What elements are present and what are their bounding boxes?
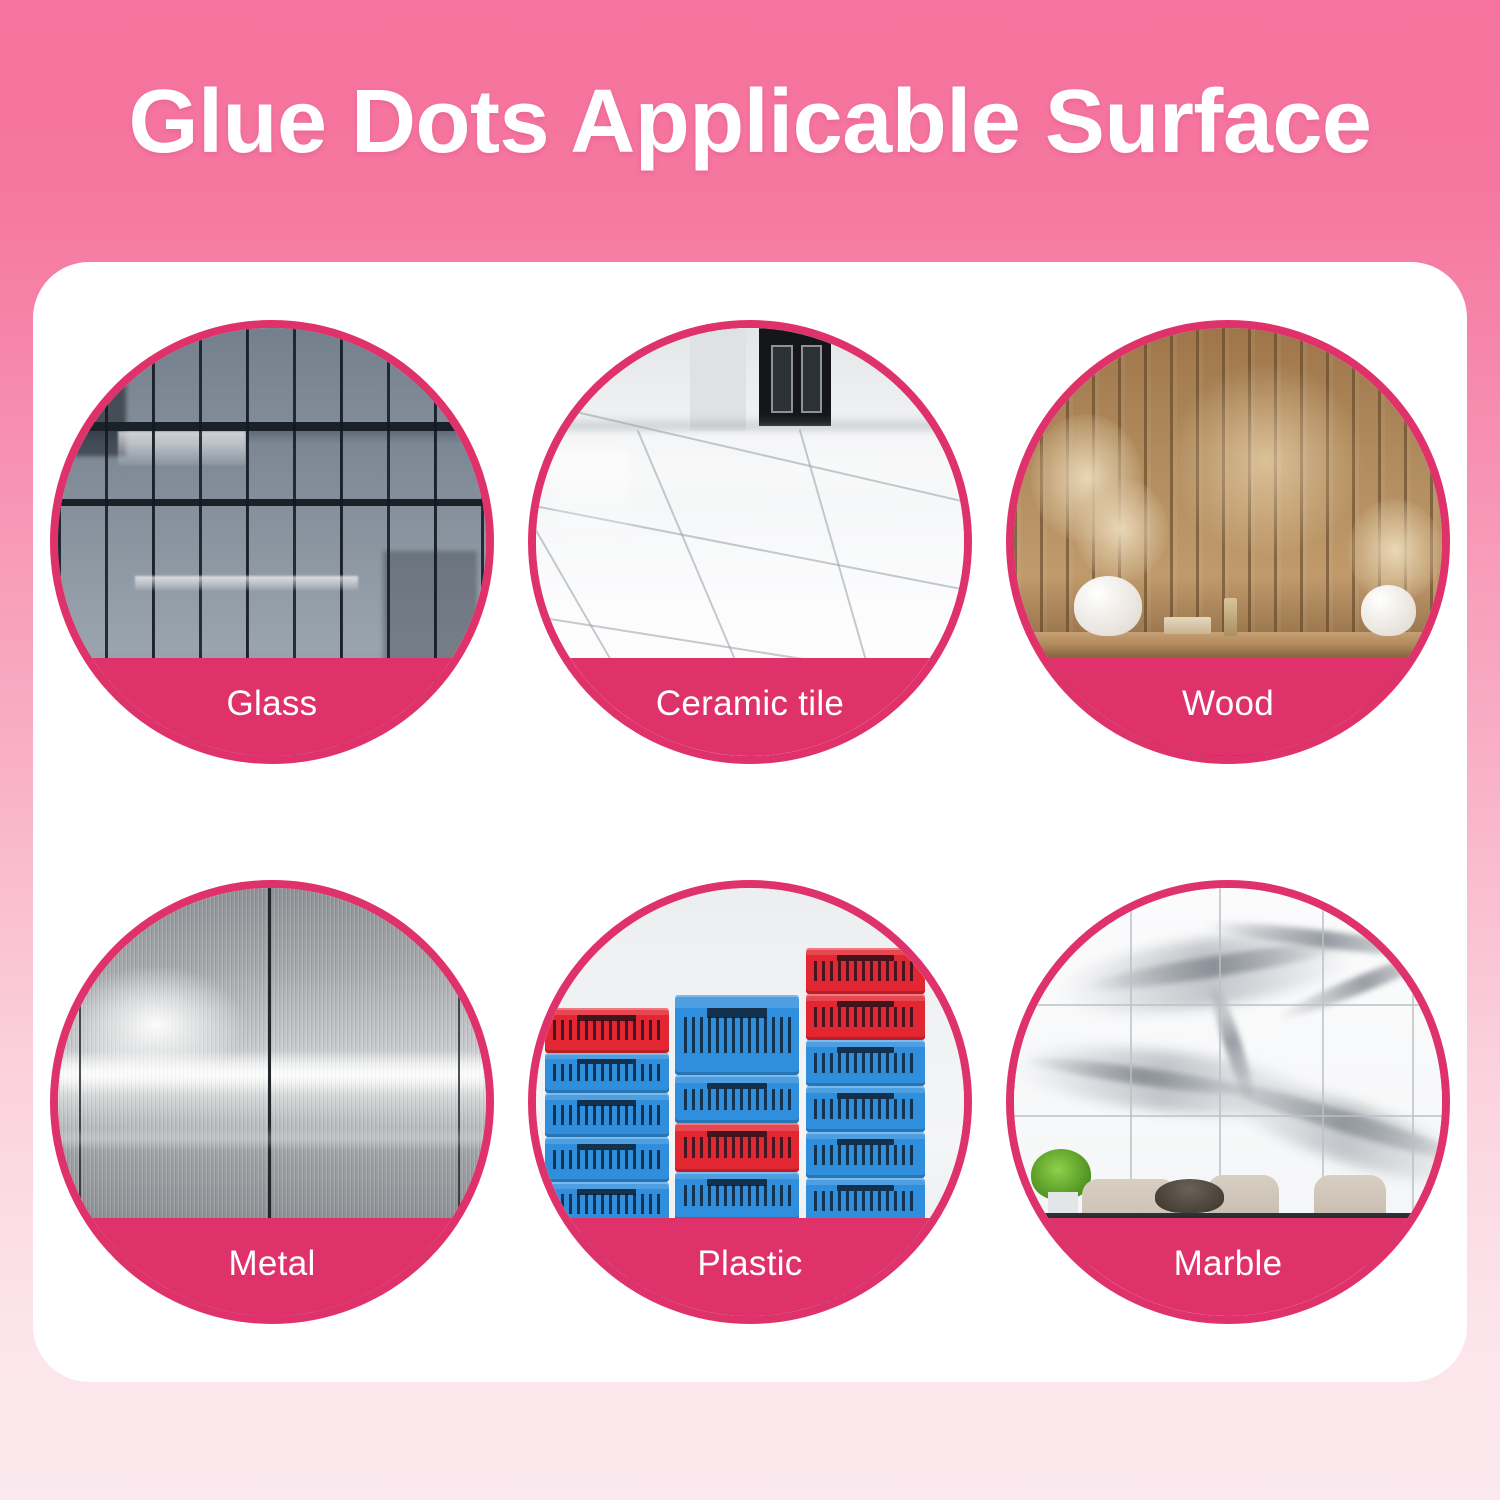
surface-tile-plastic[interactable]: Plastic xyxy=(528,880,972,1324)
wood-vase-right xyxy=(1361,585,1417,636)
poster-root: Glue Dots Applicable Surface xyxy=(0,0,1500,1500)
metal-soft-reflection xyxy=(58,1128,486,1149)
surface-grid: Glass xyxy=(33,262,1467,1382)
marble-grout-h-1 xyxy=(1014,1004,1442,1006)
surface-label-band-marble: Marble xyxy=(1014,1218,1442,1316)
surface-label-band-ceramic: Ceramic tile xyxy=(536,658,964,756)
page-title: Glue Dots Applicable Surface xyxy=(0,76,1500,170)
surface-circle-plastic: Plastic xyxy=(528,880,972,1324)
marble-grout-v-4 xyxy=(1412,888,1414,1222)
surface-label-band-wood: Wood xyxy=(1014,658,1442,756)
wood-branch-left-b xyxy=(1074,478,1168,581)
ceramic-door-panel-right xyxy=(801,345,822,413)
crate xyxy=(545,1008,669,1053)
surface-tile-wood[interactable]: Wood xyxy=(1006,320,1450,764)
ceramic-specular-left xyxy=(553,448,630,559)
ceramic-door-panel-left xyxy=(771,345,792,413)
surface-tile-marble[interactable]: Marble xyxy=(1006,880,1450,1324)
marble-table-bowl xyxy=(1155,1179,1223,1213)
crate xyxy=(675,1123,799,1171)
metal-highlight-band xyxy=(58,1051,486,1094)
marble-grout-h-2 xyxy=(1014,1115,1442,1117)
crate xyxy=(806,948,926,994)
surface-circle-ceramic: Ceramic tile xyxy=(528,320,972,764)
surface-label-marble: Marble xyxy=(1174,1246,1283,1281)
surface-label-metal: Metal xyxy=(228,1246,315,1281)
crate xyxy=(545,1137,669,1182)
surface-label-band-plastic: Plastic xyxy=(536,1218,964,1316)
wood-candle-holder xyxy=(1224,598,1237,637)
crate xyxy=(806,1132,926,1178)
surface-label-wood: Wood xyxy=(1182,686,1274,721)
crate xyxy=(545,1053,669,1093)
crate xyxy=(806,1086,926,1132)
surface-circle-marble: Marble xyxy=(1006,880,1450,1324)
surface-label-band-metal: Metal xyxy=(58,1218,486,1316)
surface-label-ceramic: Ceramic tile xyxy=(656,686,844,721)
wood-vase-left xyxy=(1074,576,1142,636)
crate xyxy=(806,994,926,1040)
crate xyxy=(545,1093,669,1138)
surface-circle-metal: Metal xyxy=(50,880,494,1324)
surface-circle-glass: Glass xyxy=(50,320,494,764)
wood-books xyxy=(1164,617,1211,634)
ceramic-wall-column xyxy=(690,328,746,431)
surface-label-glass: Glass xyxy=(227,686,318,721)
crate xyxy=(675,1172,799,1220)
surface-label-plastic: Plastic xyxy=(697,1246,802,1281)
marble-grout-v-2 xyxy=(1219,888,1221,1222)
crate xyxy=(675,995,799,1075)
marble-grout-v-3 xyxy=(1322,888,1324,1222)
wood-wall-light xyxy=(1168,362,1365,559)
crate xyxy=(675,1075,799,1123)
surface-label-band-glass: Glass xyxy=(58,658,486,756)
surface-tile-ceramic[interactable]: Ceramic tile xyxy=(528,320,972,764)
wood-shelf xyxy=(1014,632,1442,660)
glass-light-streak xyxy=(135,576,358,590)
surface-tile-metal[interactable]: Metal xyxy=(50,880,494,1324)
surface-tile-glass[interactable]: Glass xyxy=(50,320,494,764)
crate xyxy=(806,1040,926,1086)
marble-grout-v-1 xyxy=(1130,888,1132,1222)
surface-circle-wood: Wood xyxy=(1006,320,1450,764)
